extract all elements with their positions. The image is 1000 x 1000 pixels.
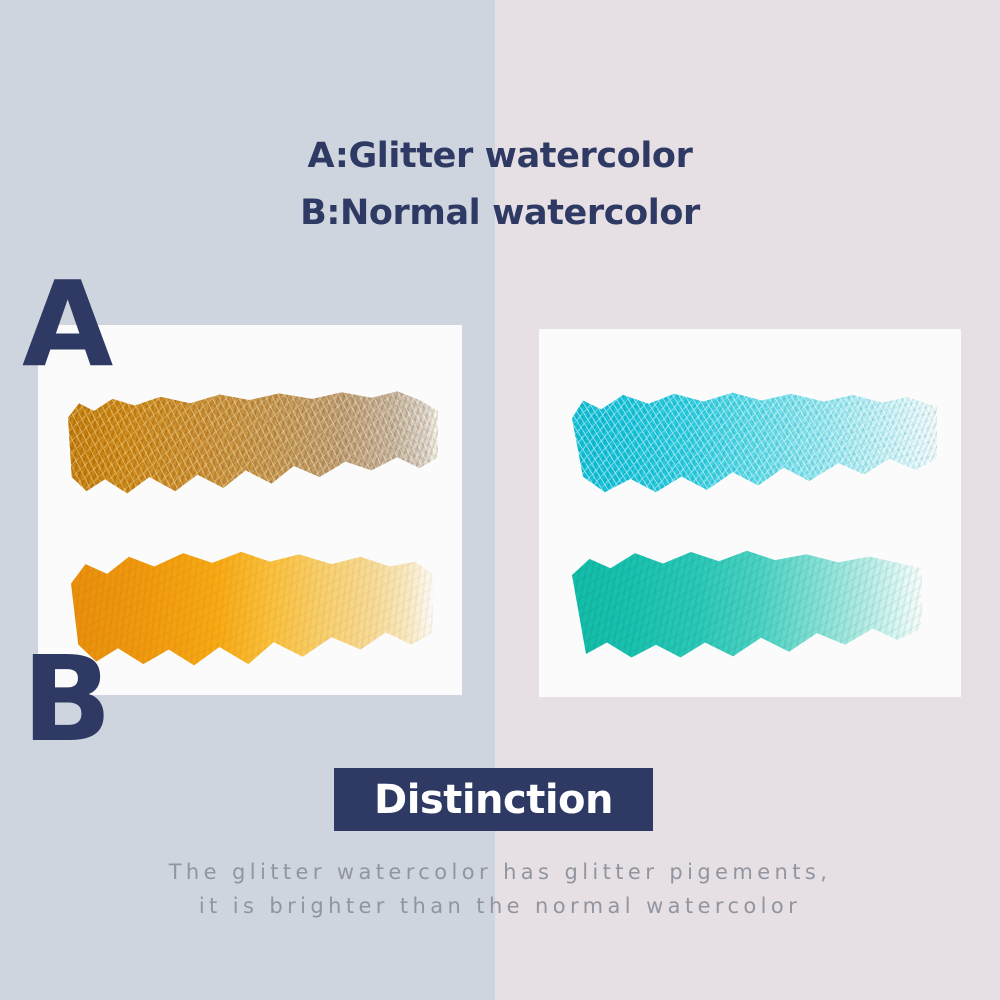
glitter-amber-swatch <box>68 389 438 499</box>
distinction-badge-label: Distinction <box>374 780 613 820</box>
heading-line-a: A:Glitter watercolor <box>0 128 1000 185</box>
heading-line-b: B:Normal watercolor <box>0 185 1000 242</box>
caption-block: The glitter watercolor has glitter pigem… <box>0 855 1000 923</box>
product-comparison-poster: A:Glitter watercolor B:Normal watercolor… <box>0 0 1000 1000</box>
sample-panel-right <box>539 329 961 697</box>
legend-heading-block: A:Glitter watercolor B:Normal watercolor <box>0 128 1000 242</box>
normal-golden-swatch <box>71 547 433 669</box>
glitter-sparkle-texture <box>572 387 937 499</box>
normal-teal-swatch <box>572 545 922 661</box>
distinction-badge: Distinction <box>334 768 653 831</box>
row-label-b: B <box>22 640 112 758</box>
glitter-cyan-swatch <box>572 387 937 499</box>
caption-line-2: it is brighter than the normal watercolo… <box>0 889 1000 923</box>
row-label-a: A <box>22 265 113 383</box>
glitter-sparkle-texture <box>68 389 438 499</box>
swatch-grain <box>71 547 433 669</box>
swatch-grain <box>572 545 922 661</box>
caption-line-1: The glitter watercolor has glitter pigem… <box>0 855 1000 889</box>
